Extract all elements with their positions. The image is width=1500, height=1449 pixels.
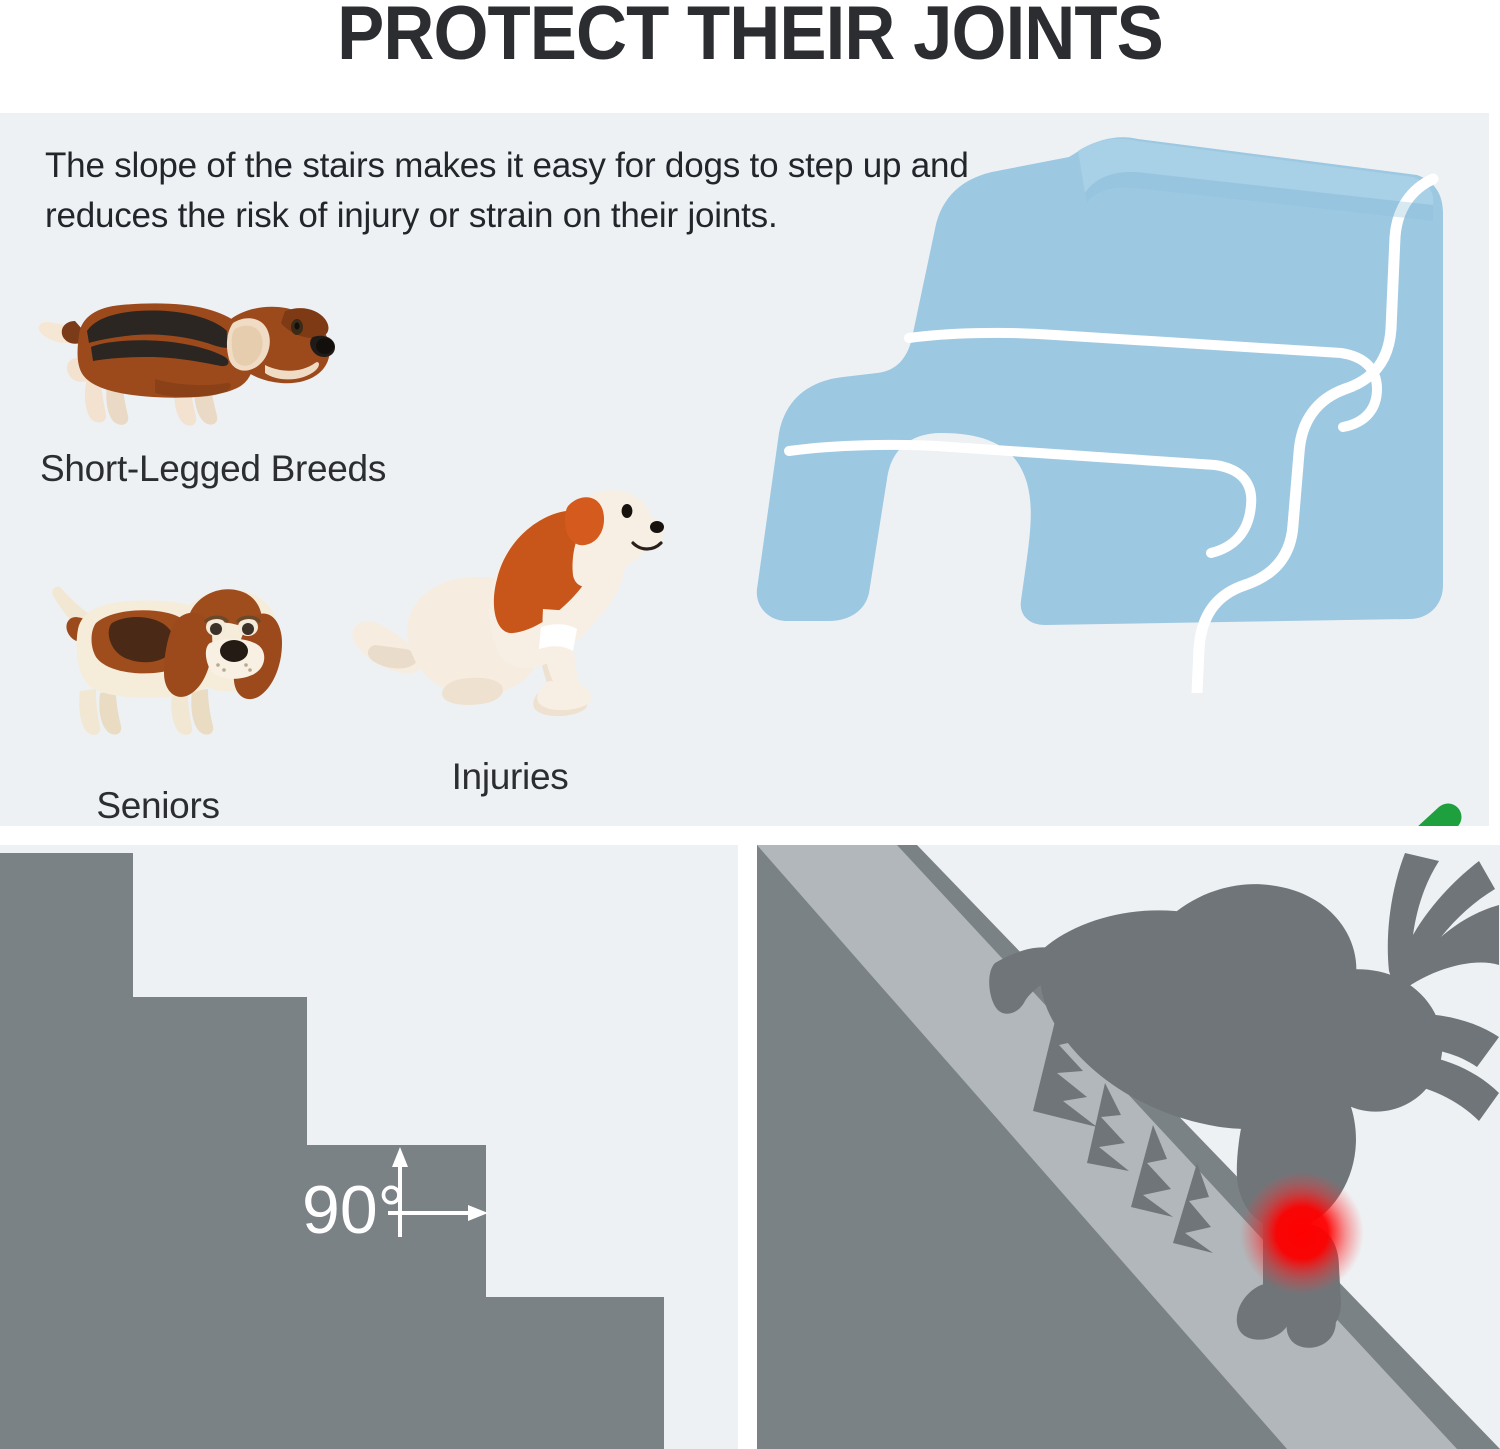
pain-indicator (1240, 1171, 1364, 1295)
bandaged-dog-icon (345, 483, 675, 743)
infographic-page: PROTECT THEIR JOINTS The slope of the st… (0, 0, 1500, 1449)
blue-pet-stairs-icon (745, 133, 1445, 693)
right-angle-stairs-icon: 90° (0, 845, 738, 1449)
basset-hound-dog-icon (38, 573, 306, 773)
hero-panel: The slope of the stairs makes it easy fo… (0, 113, 1489, 826)
dachshund-dog-icon (35, 283, 365, 443)
dog-category-seniors: Seniors (20, 563, 320, 826)
panel-jumping-dog-ramp (757, 845, 1500, 1449)
dog-category-label: Injuries (410, 756, 610, 798)
dog-category-injuries: Injuries (330, 473, 690, 826)
page-title: PROTECT THEIR JOINTS (53, 0, 1448, 82)
green-check-icon (1290, 803, 1465, 826)
stairs-angle-label: 90° (302, 1172, 405, 1248)
panel-steep-stairs: 90° (0, 845, 738, 1449)
dog-category-label: Seniors (63, 785, 253, 826)
dog-jumping-down-ramp-icon (757, 845, 1500, 1449)
